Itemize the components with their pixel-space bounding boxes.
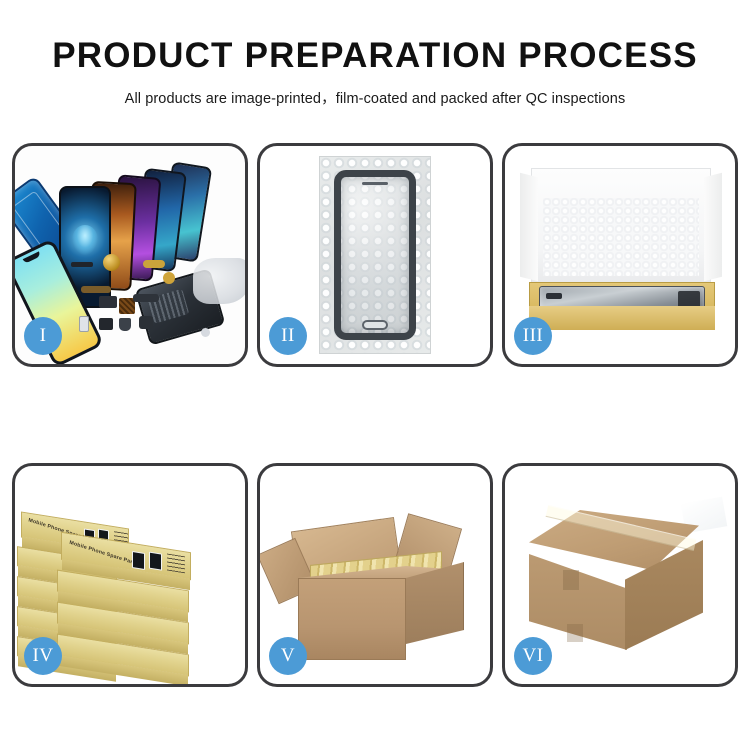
spare-part-speaker — [119, 318, 131, 331]
spare-part-screw — [201, 328, 210, 337]
bubble-wrap-sheet — [319, 156, 431, 354]
spare-part-camera-module — [99, 318, 113, 330]
spare-part-battery-connector — [139, 316, 153, 329]
process-step-panel-4: Mobile Phone Spare Parts Mobile Phone Sp… — [12, 463, 248, 687]
earpiece-slot — [362, 182, 388, 185]
carton-handle-tab-top — [563, 570, 579, 590]
carton-handle-tab-bottom — [567, 624, 583, 642]
process-step-panel-1: I — [12, 143, 248, 367]
spare-part-sim-tray — [79, 316, 89, 332]
box-phone-image-b — [149, 552, 162, 571]
spare-part-strip — [71, 262, 93, 267]
spare-part-gold-clip — [143, 260, 165, 268]
step-badge-2: II — [269, 317, 307, 355]
page-subtitle: All products are image-printed，film-coat… — [0, 73, 750, 108]
box-phone-image-a — [132, 551, 145, 570]
spare-part-flex-cable — [81, 286, 111, 293]
hand-holding-part — [193, 258, 245, 304]
home-button — [362, 320, 388, 330]
step-badge-5: V — [269, 637, 307, 675]
header: PRODUCT PREPARATION PROCESS All products… — [0, 0, 750, 108]
product-preparation-process-page: PRODUCT PREPARATION PROCESS All products… — [0, 0, 750, 750]
process-step-grid: I II — [12, 143, 738, 687]
carton-front-face — [298, 578, 406, 660]
step-badge-1: I — [24, 317, 62, 355]
process-step-panel-2: II — [257, 143, 493, 367]
box-spec-lines — [167, 553, 185, 573]
process-step-panel-6: VI — [502, 463, 738, 687]
mailer-front-wall — [529, 306, 715, 330]
step-badge-6: VI — [514, 637, 552, 675]
page-title: PRODUCT PREPARATION PROCESS — [0, 0, 750, 73]
spare-part-bracket — [133, 294, 159, 302]
foam-lining — [543, 198, 699, 276]
step-badge-4: IV — [24, 637, 62, 675]
vibration-motor-part — [103, 254, 120, 271]
process-step-panel-3: III — [502, 143, 738, 367]
wrapped-phone-screen — [334, 170, 416, 340]
process-step-panel-5: V — [257, 463, 493, 687]
spare-part-screw-washer — [163, 272, 175, 284]
spare-part-connector — [99, 296, 117, 308]
step-badge-3: III — [514, 317, 552, 355]
